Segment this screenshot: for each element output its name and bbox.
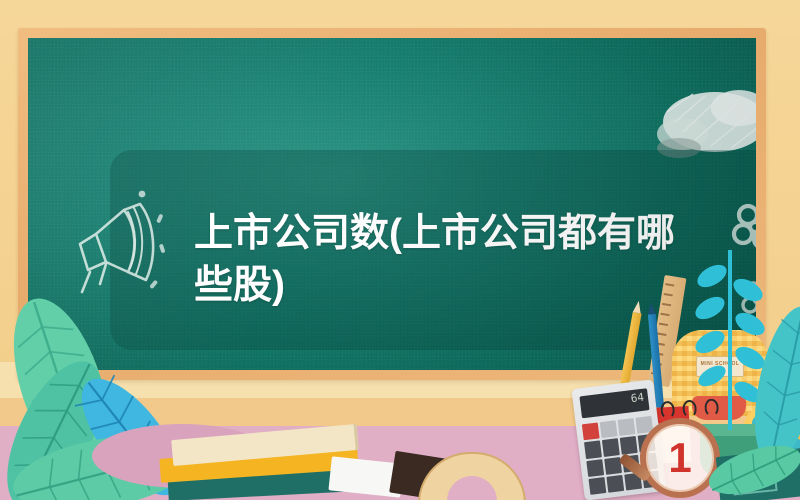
pen-tip (647, 303, 656, 315)
poster-canvas: 上市公司数(上市公司都有哪些股) (0, 0, 800, 500)
protractor-cutout (447, 476, 497, 500)
chalkboard-surface: 上市公司数(上市公司都有哪些股) (28, 38, 756, 370)
page-title: 上市公司数(上市公司都有哪些股) (194, 208, 694, 312)
calculator-screen: 64 (579, 388, 649, 418)
leaf-decoration (700, 430, 800, 500)
magnifier-number: 1 (668, 437, 691, 479)
flower-icon (728, 200, 756, 254)
calculator-display-value: 64 (630, 391, 645, 406)
chalk-smudge (653, 78, 756, 170)
